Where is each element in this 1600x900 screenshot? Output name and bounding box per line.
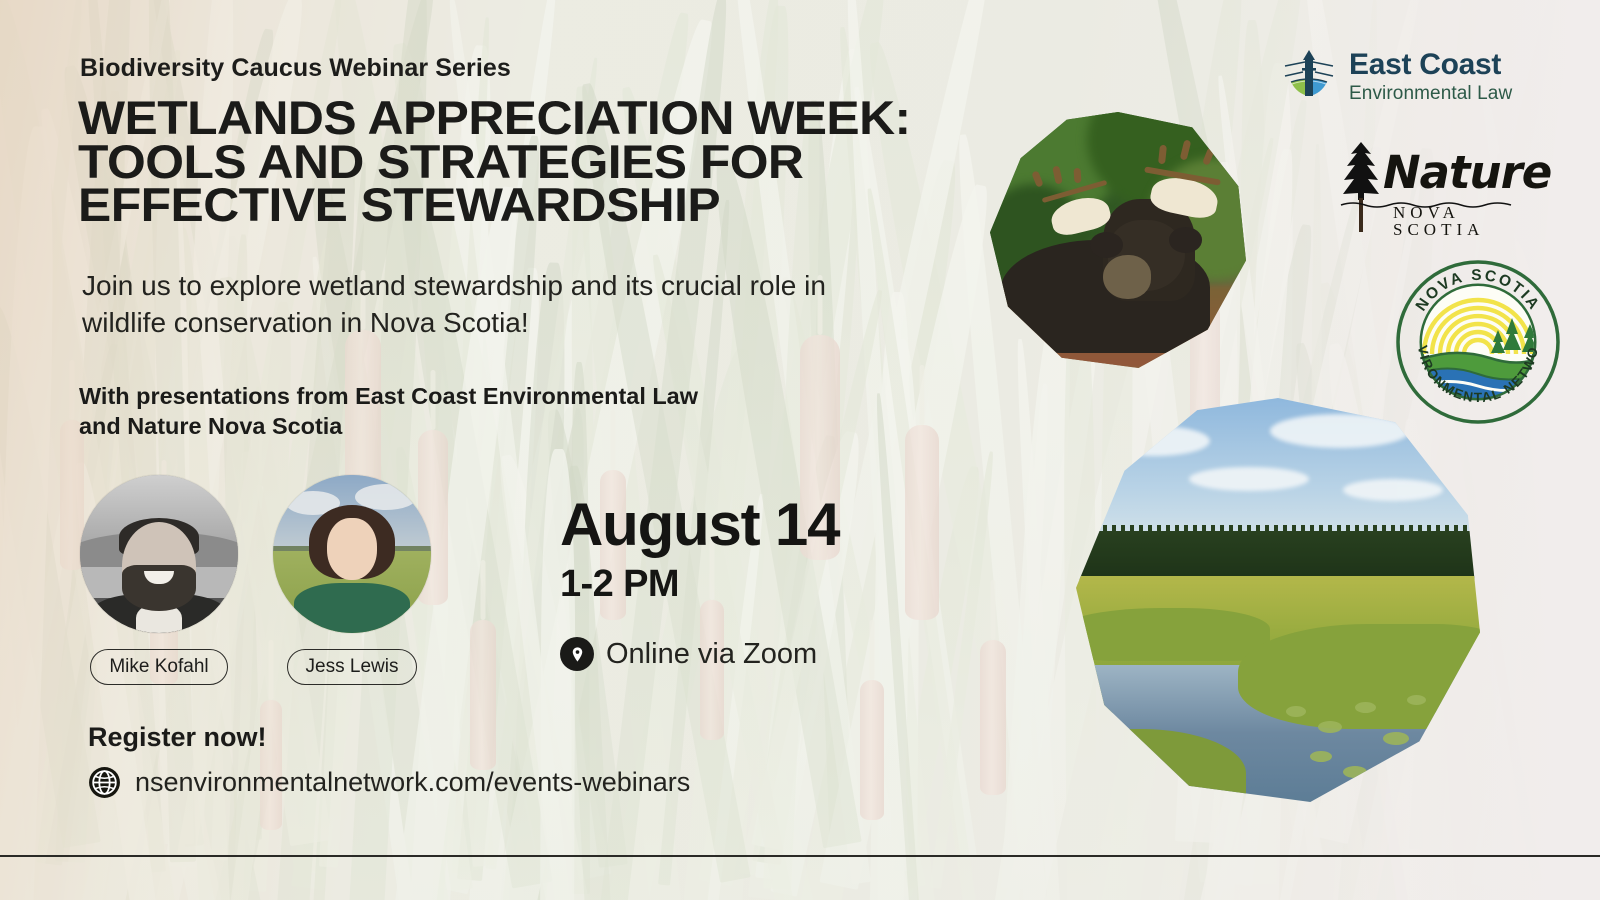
nature-subtitle: NOVA SCOTIA [1393, 204, 1521, 238]
event-details: August 14 1-2 PM Online via Zoom [560, 495, 839, 671]
register-heading: Register now! [88, 722, 267, 753]
speakers-list: Mike Kofahl Jess Lewis [80, 475, 431, 685]
presenters-note-line-1: With presentations from East Coast Envir… [79, 383, 698, 409]
register-url-row[interactable]: nsenvironmentalnetwork.com/events-webina… [88, 766, 690, 799]
lighthouse-icon [1279, 44, 1339, 109]
event-location: Online via Zoom [606, 640, 817, 669]
webinar-poster: Biodiversity Caucus Webinar Series WETLA… [0, 0, 1600, 900]
event-location-row: Online via Zoom [560, 637, 839, 671]
presenters-note-line-2: and Nature Nova Scotia [79, 413, 342, 439]
pine-tree-icon [1331, 138, 1391, 243]
avatar [273, 475, 431, 633]
lede-paragraph: Join us to explore wetland stewardship a… [82, 267, 912, 341]
speaker-name-tag: Jess Lewis [287, 649, 418, 685]
presenters-note: With presentations from East Coast Envir… [79, 381, 854, 442]
register-url[interactable]: nsenvironmentalnetwork.com/events-webina… [135, 769, 690, 796]
headline-line-3: EFFECTIVE STEWARDSHIP [78, 183, 1011, 227]
speaker-name-tag: Mike Kofahl [90, 649, 227, 685]
headline-line-2: TOOLS AND STRATEGIES FOR [78, 140, 1011, 184]
series-eyebrow: Biodiversity Caucus Webinar Series [80, 54, 511, 83]
event-date: August 14 [560, 495, 839, 555]
logo-nova-scotia-environmental-network: NOVA SCOTIA ENVIRONMENTAL NETWORK [1394, 258, 1562, 426]
speaker-mike-kofahl: Mike Kofahl [80, 475, 238, 685]
page-title: WETLANDS APPRECIATION WEEK: TOOLS AND ST… [78, 96, 1011, 227]
speaker-jess-lewis: Jess Lewis [273, 475, 431, 685]
event-time: 1-2 PM [560, 565, 839, 603]
headline-line-1: WETLANDS APPRECIATION WEEK: [78, 96, 1011, 140]
map-pin-icon [560, 637, 594, 671]
nature-wordmark: Nature [1383, 150, 1551, 195]
ecel-wordmark: East Coast Environmental Law [1349, 50, 1512, 103]
logo-east-coast-environmental-law: East Coast Environmental Law [1279, 40, 1527, 112]
bottom-divider [0, 855, 1600, 857]
ecel-name-line-1: East Coast [1349, 50, 1512, 80]
avatar [80, 475, 238, 633]
globe-icon [88, 766, 121, 799]
logo-nature-nova-scotia: Nature NOVA SCOTIA [1331, 138, 1521, 238]
ecel-name-line-2: Environmental Law [1349, 84, 1512, 103]
